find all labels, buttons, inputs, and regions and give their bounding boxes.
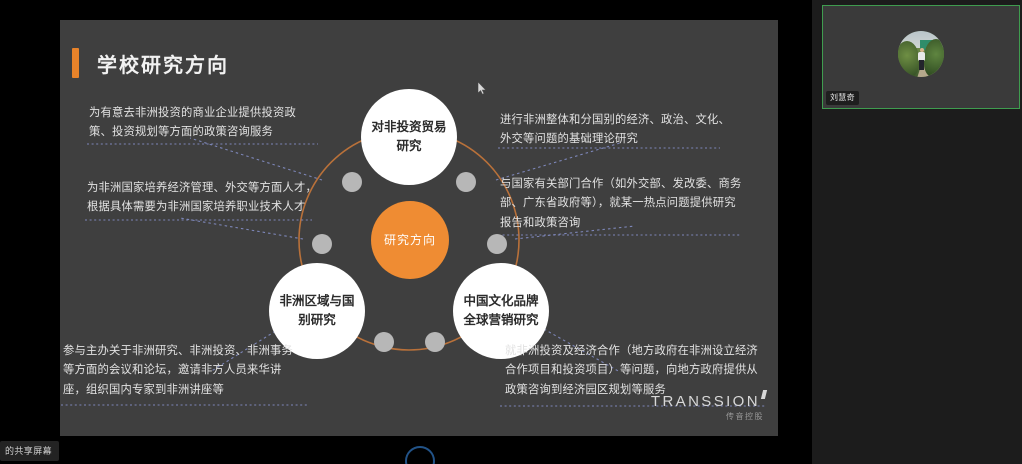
logo-wordmark-row: TRANSSION [651, 393, 766, 410]
node-investment-trade[interactable]: 对非投资贸易 研究 [361, 89, 457, 185]
brand-logo: TRANSSION 传音控股 [651, 393, 766, 422]
avatar-foliage-left [898, 41, 919, 77]
annotation-right-middle: 与国家有关部门合作（如外交部、发改委、商务部、广东省政府等），就某一热点问题提供… [500, 175, 744, 233]
shared-screen-stage: 学校研究方向 [0, 0, 810, 464]
share-screen-banner: 的共享屏幕 [0, 441, 59, 461]
participant-name-label: 刘慧奇 [826, 91, 859, 105]
node-label-line2: 别研究 [298, 311, 336, 330]
node-label-line1: 非洲区域与国 [279, 292, 354, 311]
avatar-foliage-right [924, 39, 944, 77]
loading-indicator-arc [405, 446, 435, 464]
presentation-slide: 学校研究方向 [60, 20, 778, 436]
annotation-left-top: 为有意去非洲投资的商业企业提供投资政策、投资规划等方面的政策咨询服务 [89, 104, 317, 143]
node-label-line1: 对非投资贸易 [371, 118, 446, 137]
node-label-line2: 全球营销研究 [463, 311, 538, 330]
node-label-line1: 中国文化品牌 [463, 292, 538, 311]
annotation-right-top: 进行非洲整体和分国别的经济、政治、文化、外交等问题的基础理论研究 [500, 111, 740, 150]
annotation-left-middle: 为非洲国家培养经济管理、外交等方面人才，根据具体需要为非洲国家培养职业技术人才 [87, 179, 317, 218]
video-panel: 刘慧奇 [812, 0, 1022, 464]
node-center-research-direction[interactable]: 研究方向 [371, 201, 449, 279]
logo-subtext: 传音控股 [651, 411, 764, 422]
screen-root: 学校研究方向 [0, 0, 1022, 464]
annotation-right-bottom: 就非洲投资及经济合作（地方政府在非洲设立经济合作项目和投资项目）等问题，向地方政… [505, 342, 761, 400]
logo-wordmark: TRANSSION [651, 393, 760, 410]
node-label-line2: 研究 [396, 137, 421, 156]
avatar [898, 31, 944, 77]
participant-video-tile[interactable]: 刘慧奇 [822, 5, 1020, 109]
mouse-cursor-icon [478, 82, 487, 95]
center-node-label: 研究方向 [384, 231, 436, 250]
avatar-person-legs [919, 60, 924, 70]
annotation-left-bottom: 参与主办关于非洲研究、非洲投资、非洲事务等方面的会议和论坛，邀请非方人员来华讲座… [63, 342, 295, 400]
